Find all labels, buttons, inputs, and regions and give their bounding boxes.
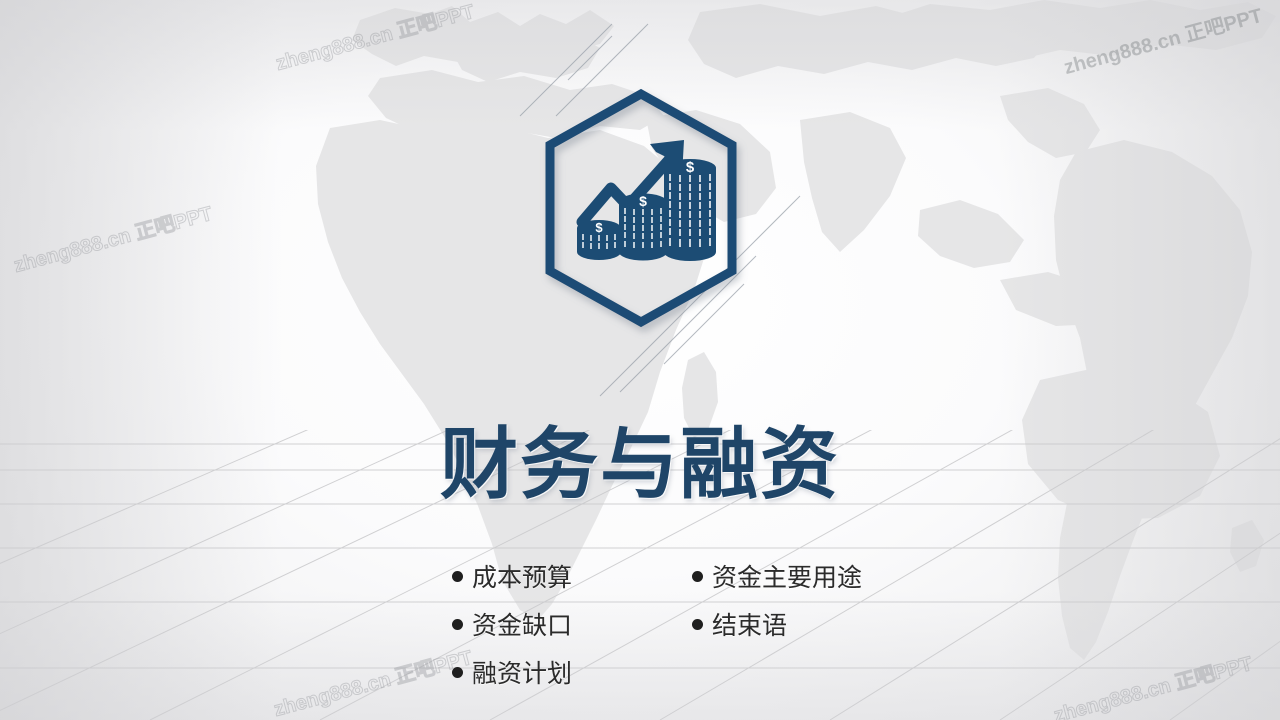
- list-item[interactable]: 资金主要用途: [692, 552, 972, 600]
- agenda-left-column: 成本预算 资金缺口 融资计划: [452, 552, 692, 696]
- list-item-label: 融资计划: [472, 654, 572, 690]
- list-item[interactable]: 结束语: [692, 600, 972, 648]
- agenda-right-column: 资金主要用途 结束语: [692, 552, 972, 696]
- presentation-slide: $: [0, 0, 1280, 720]
- watermark-bottom-right: zheng888.cn 正吧PPT: [1050, 647, 1255, 720]
- finance-hexagon-emblem: $: [536, 82, 746, 334]
- list-item[interactable]: 资金缺口: [452, 600, 692, 648]
- coin-stack-medium: $: [619, 193, 667, 261]
- slide-title: 财务与融资: [0, 424, 1280, 506]
- svg-text:$: $: [639, 193, 647, 209]
- list-item-label: 资金缺口: [472, 606, 572, 642]
- agenda-list: 成本预算 资金缺口 融资计划 资金主要用途 结束语: [452, 552, 972, 696]
- coin-stack-small: $: [577, 220, 621, 260]
- bullet-dot-icon: [692, 571, 703, 582]
- list-item-label: 成本预算: [472, 558, 572, 594]
- watermark-top-left: zheng888.cn 正吧PPT: [272, 0, 477, 76]
- list-item[interactable]: 成本预算: [452, 552, 692, 600]
- list-item[interactable]: 融资计划: [452, 648, 692, 696]
- list-item-label: 资金主要用途: [712, 558, 862, 594]
- svg-text:$: $: [686, 159, 695, 176]
- bullet-dot-icon: [452, 619, 463, 630]
- bullet-dot-icon: [452, 571, 463, 582]
- svg-text:$: $: [595, 220, 603, 235]
- bullet-dot-icon: [692, 619, 703, 630]
- list-item-label: 结束语: [712, 606, 787, 642]
- watermark-middle-left: zheng888.cn 正吧PPT: [10, 197, 215, 278]
- watermark-top-right: zheng888.cn 正吧PPT: [1060, 0, 1265, 80]
- coin-stack-large: $: [664, 159, 716, 261]
- watermark-bottom-left: zheng888.cn 正吧PPT: [270, 641, 475, 720]
